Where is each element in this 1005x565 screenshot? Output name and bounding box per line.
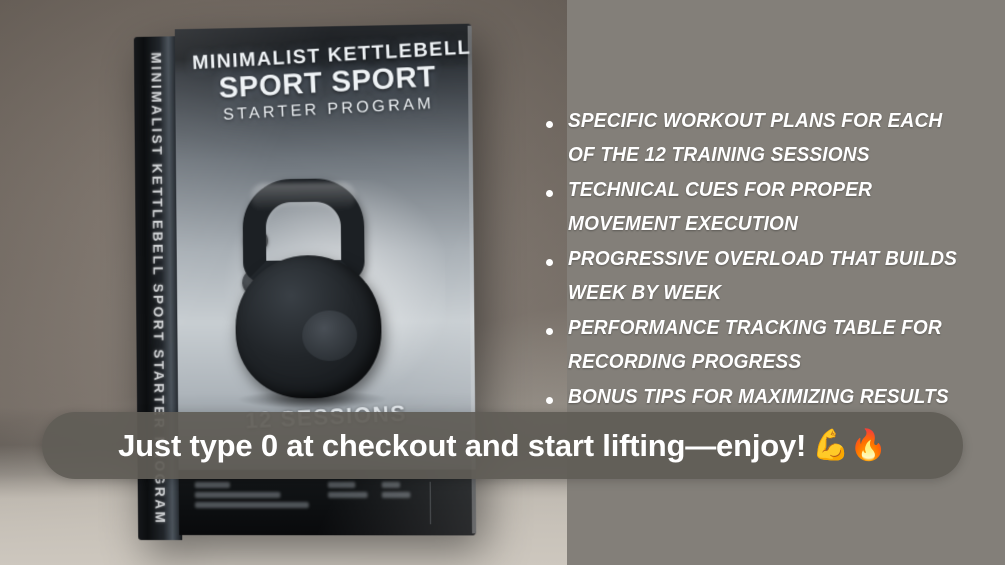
caption-banner: Just type 0 at checkout and start liftin… [42,412,963,479]
screenshot-root: MINIMALIST KETTLEBELL SPORT STARTER PROG… [0,0,1005,565]
kettlebell-handle-highlight [250,182,355,211]
cover-footer-line [327,482,355,488]
cover-footer-line [195,492,280,498]
product-photo-panel: MINIMALIST KETTLEBELL SPORT STARTER PROG… [0,0,567,565]
list-item: Progressive overload that builds week by… [541,242,996,310]
kettlebell-body [235,255,382,399]
list-item: Bonus tips for maximizing results [541,380,996,414]
kettlebell-illustration [194,171,462,425]
list-item-label: Bonus tips for maximizing results [568,380,966,414]
cover-footer-line [195,482,230,488]
list-item: Specific workout plans for each of the 1… [541,104,996,172]
cover-footer-line [382,492,411,498]
list-item-label: Performance tracking table for recording… [568,311,966,379]
bullet-point-icon [541,173,568,202]
list-item: Technical cues for proper movement execu… [541,173,996,241]
cover-footer-line [381,482,400,488]
cover-footer-col-1 [195,482,314,524]
bullet-point-icon [541,242,568,271]
cover-footer-col-2 [327,482,367,524]
list-item: Performance tracking table for recording… [541,311,996,379]
list-item-label: Technical cues for proper movement execu… [568,173,966,241]
kettlebell-face-plate [302,310,357,361]
bullet-point-icon [541,104,568,133]
list-item-label: Specific workout plans for each of the 1… [568,104,966,172]
cover-footer-line [195,502,309,508]
feature-list: Specific workout plans for each of the 1… [541,104,996,415]
bullet-point-icon [541,380,568,409]
cover-footer-divider [430,482,431,524]
book-cover-title: MINIMALIST KETTLEBELL SPORT SPORT STARTE… [192,37,464,126]
bullet-point-icon [541,311,568,340]
cover-footer-details [195,482,460,525]
cover-footer-line [327,492,367,498]
caption-text: Just type 0 at checkout and start liftin… [118,428,806,464]
flexed-bicep-fire-emoji: 💪🔥 [812,428,887,463]
cover-footer-band [179,470,477,536]
list-item-label: Progressive overload that builds week by… [568,242,966,310]
cover-footer-col-3 [381,482,415,524]
